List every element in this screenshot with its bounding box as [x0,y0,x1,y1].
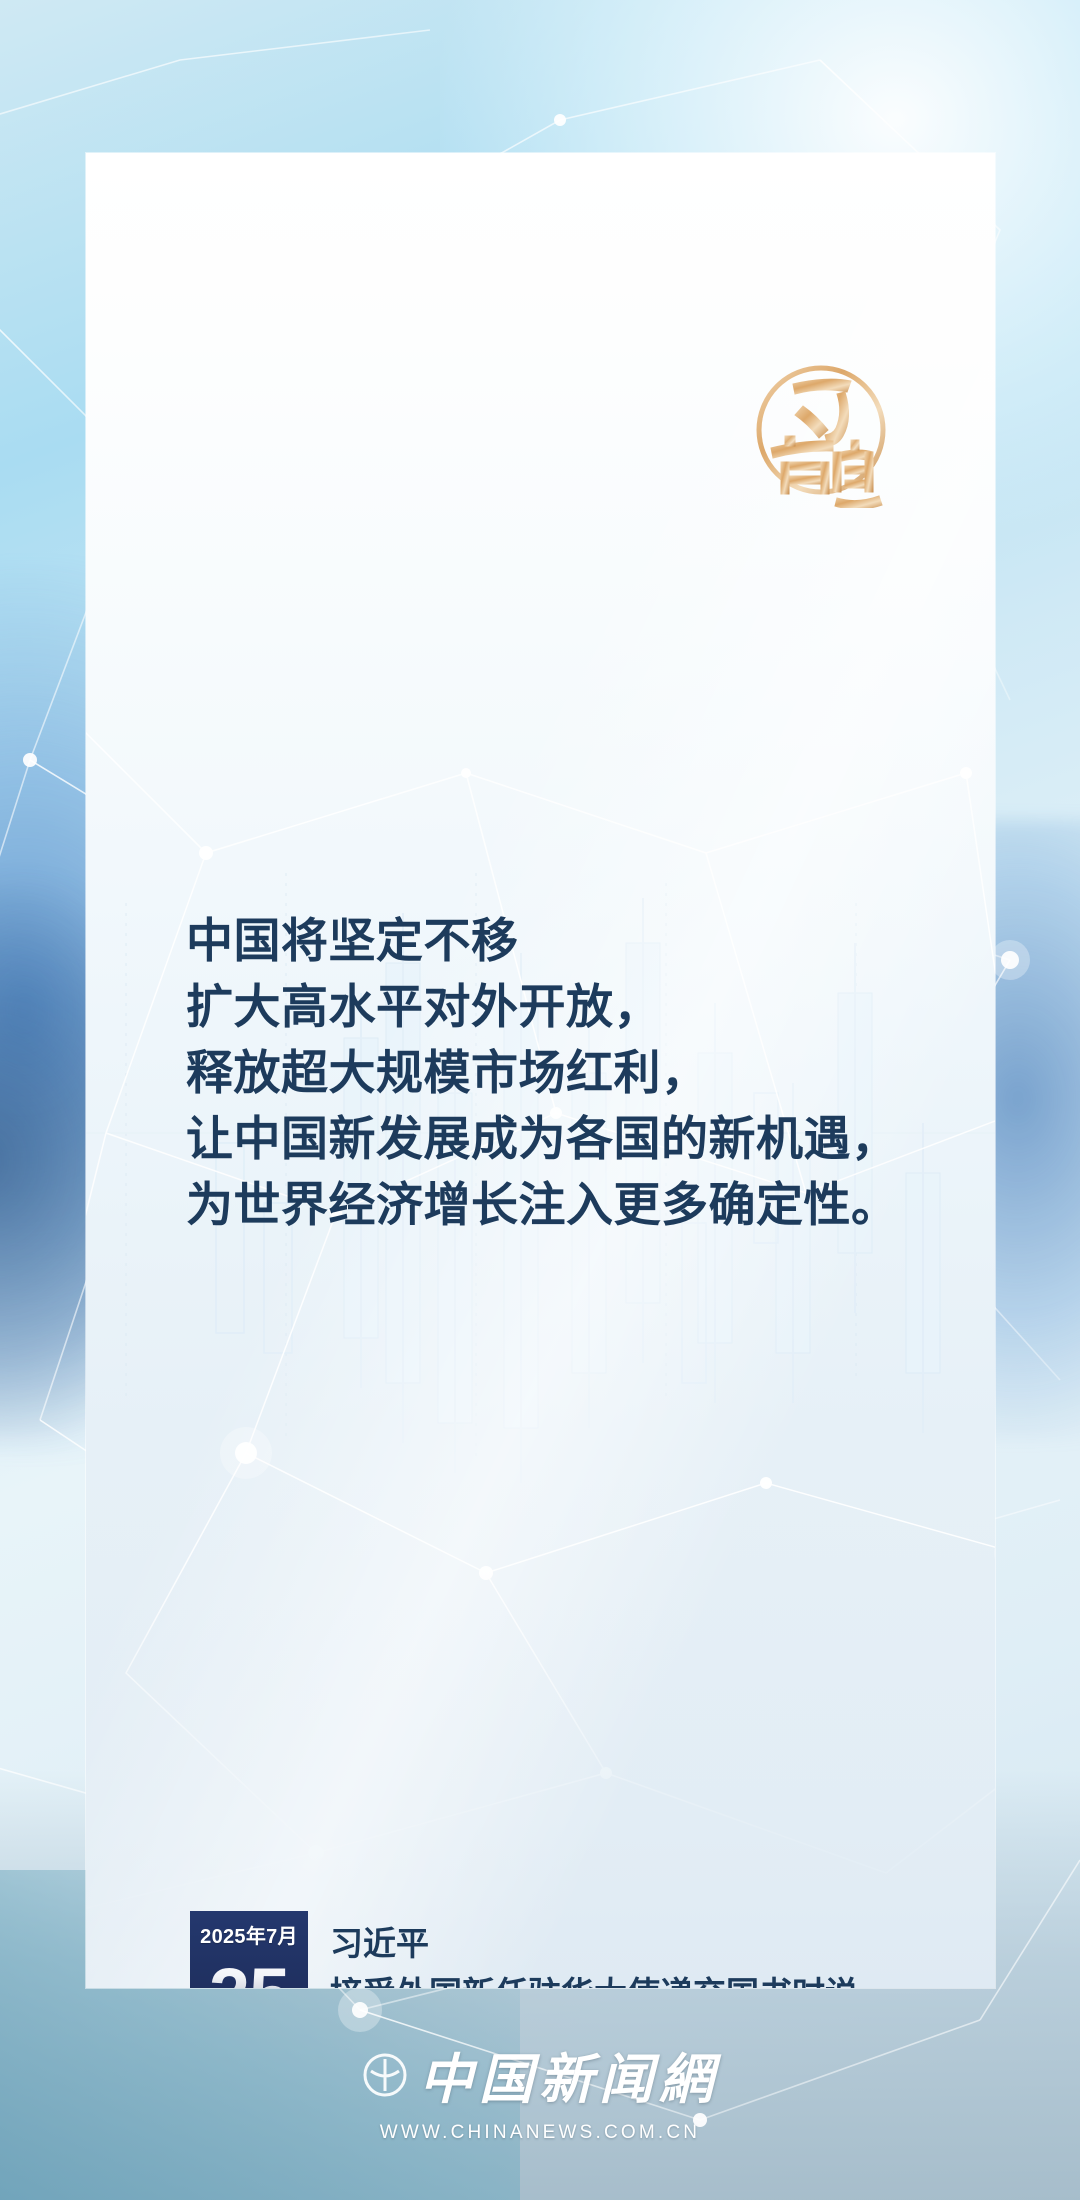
xiyandao-seal-logo [741,348,901,508]
site-url: WWW.CHINANEWS.COM.CN [0,2122,1080,2144]
attribution-block: 习近平 接受外国新任驻华大使递交国书时说 [330,1919,990,1988]
quote-block: 中国将坚定不移 扩大高水平对外开放， 释放超大规模市场红利， 让中国新发展成为各… [186,908,976,1238]
quote-line-5: 为世界经济增长注入更多确定性。 [186,1172,976,1238]
date-day-wrap: 25 [190,1952,308,1988]
poster-card: 中国将坚定不移 扩大高水平对外开放， 释放超大规模市场红利， 让中国新发展成为各… [86,153,995,1988]
source-block: 2025年7月 25 习近平 接受外国新任驻华大使递交国书时说 [190,1911,990,1988]
date-year-month: 2025年7月 [200,1920,298,1949]
date-day: 25 [209,1952,289,1988]
site-footer: 中国新闻網 WWW.CHINANEWS.COM.CN [0,2035,1080,2144]
site-name: 中国新闻網 [419,2035,719,2114]
quote-line-4: 让中国新发展成为各国的新机遇， [186,1106,976,1172]
attribution-speaker: 习近平 [330,1919,990,1969]
attribution-occasion: 接受外国新任驻华大使递交国书时说 [330,1969,990,1988]
chinanews-emblem-icon [361,2051,409,2099]
site-logo-row: 中国新闻網 [0,2035,1080,2114]
quote-line-3: 释放超大规模市场红利， [186,1040,976,1106]
quote-line-1: 中国将坚定不移 [186,908,976,974]
date-badge: 2025年7月 25 [190,1911,308,1988]
quote-line-2: 扩大高水平对外开放， [186,974,976,1040]
